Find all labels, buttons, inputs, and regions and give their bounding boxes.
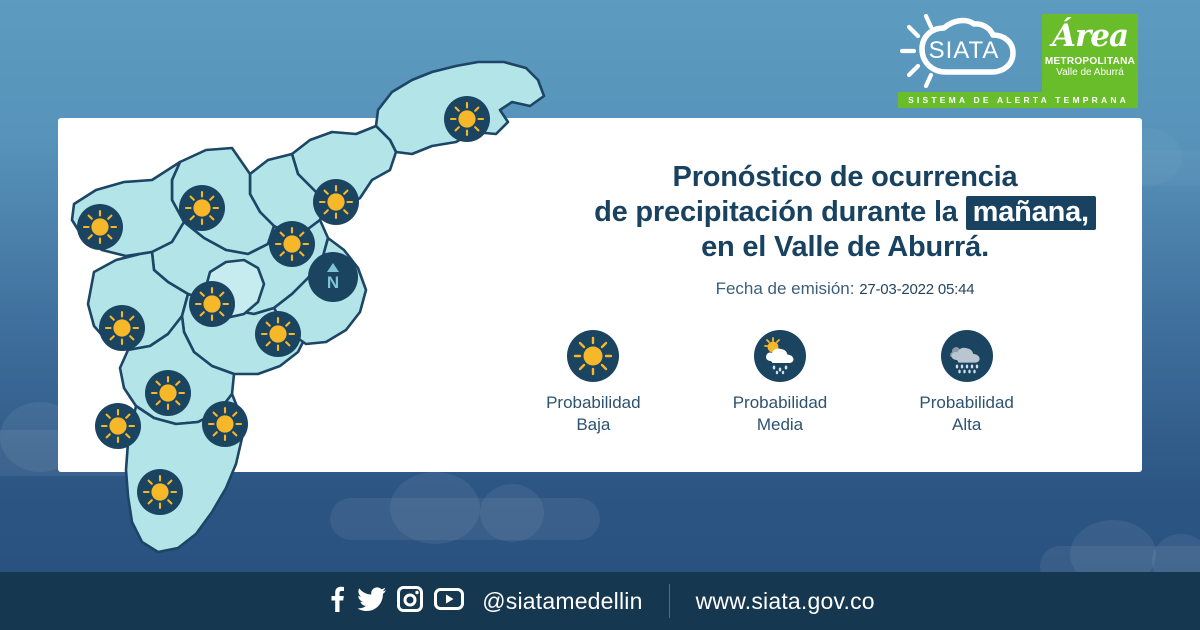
headline-block: Pronóstico de ocurrencia de precipitació… <box>545 160 1145 299</box>
emission-date: Fecha de emisión: 27-03-2022 05:44 <box>545 279 1145 299</box>
title-line-3: en el Valle de Aburrá. <box>545 230 1145 265</box>
legend-label-media: Probabilidad Media <box>697 392 862 436</box>
header-logos: SIATA Área METROPOLITANA Valle de Aburrá <box>900 14 1138 94</box>
compass-rose: N <box>308 252 358 302</box>
legend-item-alta: Probabilidad Alta <box>884 330 1049 436</box>
title-highlight-manana: mañana, <box>966 196 1096 230</box>
instagram-icon[interactable] <box>397 586 423 617</box>
title-line-2: de precipitación durante la mañana, <box>545 195 1145 230</box>
legend-alta-line1: Probabilidad <box>884 392 1049 414</box>
emission-date-label: Fecha de emisión: <box>716 279 855 298</box>
legend-item-baja: Probabilidad Baja <box>511 330 676 436</box>
legend-item-media: Probabilidad Media <box>697 330 862 436</box>
legend-media-line2: Media <box>697 414 862 436</box>
amva-line-1: METROPOLITANA <box>1045 56 1135 67</box>
legend-baja-line2: Baja <box>511 414 676 436</box>
siata-logo: SIATA <box>900 14 1032 88</box>
marker-bello <box>189 281 235 327</box>
marker-sabaneta <box>202 401 248 447</box>
title-line-1: Pronóstico de ocurrencia <box>545 160 1145 195</box>
marker-san-pedro <box>179 185 225 231</box>
marker-caldas <box>137 469 183 515</box>
title-line-2-text: de precipitación durante la <box>594 196 958 228</box>
marker-medellin <box>99 305 145 351</box>
legend-label-baja: Probabilidad Baja <box>511 392 676 436</box>
legend-label-alta: Probabilidad Alta <box>884 392 1049 436</box>
legend-baja-line1: Probabilidad <box>511 392 676 414</box>
amva-line-2: Valle de Aburrá <box>1056 67 1124 79</box>
youtube-icon[interactable] <box>434 588 464 615</box>
page-title: Pronóstico de ocurrencia de precipitació… <box>545 160 1145 265</box>
cloud-rain-icon <box>941 330 993 382</box>
infographic-canvas: SIATA Área METROPOLITANA Valle de Aburrá… <box>0 0 1200 630</box>
emission-date-value: 27-03-2022 05:44 <box>859 281 974 298</box>
svg-text:SIATA: SIATA <box>929 37 1000 64</box>
marker-don-matias <box>77 204 123 250</box>
marker-envigado <box>145 370 191 416</box>
footer-divider <box>669 584 670 618</box>
legend-alta-line2: Alta <box>884 414 1049 436</box>
sun-icon <box>567 330 619 382</box>
probability-legend: Probabilidad Baja <box>500 330 1060 436</box>
valle-de-aburra-map: N <box>60 22 560 570</box>
compass-north-label: N <box>327 273 339 292</box>
footer-bar: @siatamedellin www.siata.gov.co <box>0 572 1200 630</box>
social-handle[interactable]: @siatamedellin <box>482 588 642 615</box>
marker-barbosa <box>444 96 490 142</box>
social-icons <box>325 586 464 617</box>
legend-media-line1: Probabilidad <box>697 392 862 414</box>
marker-itagui <box>255 311 301 357</box>
facebook-icon[interactable] <box>325 586 347 617</box>
marker-girardota <box>313 179 359 225</box>
sun-cloud-rain-icon <box>754 330 806 382</box>
amva-script-label: Área <box>1052 16 1128 56</box>
twitter-icon[interactable] <box>358 587 386 616</box>
website-url[interactable]: www.siata.gov.co <box>696 588 875 615</box>
marker-la-estrella <box>95 403 141 449</box>
amva-logo: Área METROPOLITANA Valle de Aburrá <box>1042 14 1138 94</box>
siata-tagline: SISTEMA DE ALERTA TEMPRANA <box>898 92 1138 108</box>
